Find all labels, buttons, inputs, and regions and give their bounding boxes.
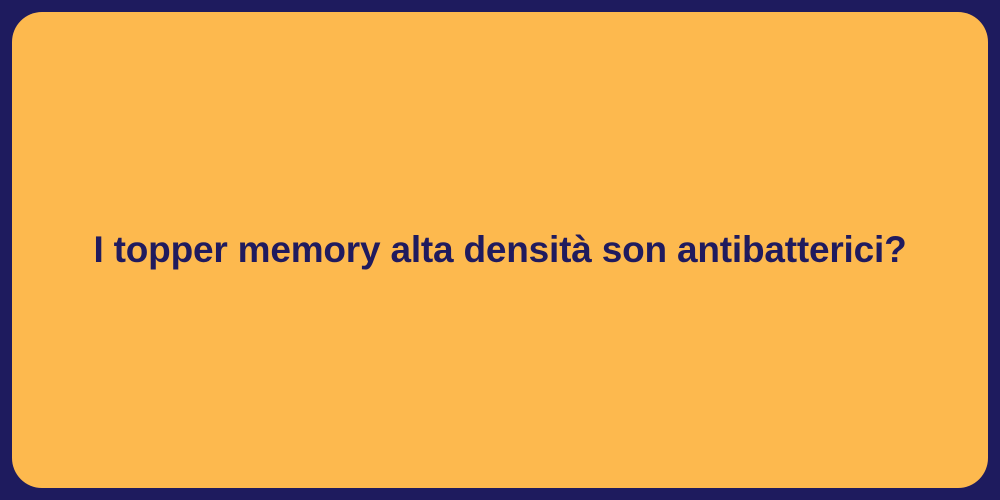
banner-frame: I topper memory alta densità son antibat… — [0, 0, 1000, 500]
page-title: I topper memory alta densità son antibat… — [53, 227, 946, 273]
banner-panel: I topper memory alta densità son antibat… — [12, 12, 988, 488]
